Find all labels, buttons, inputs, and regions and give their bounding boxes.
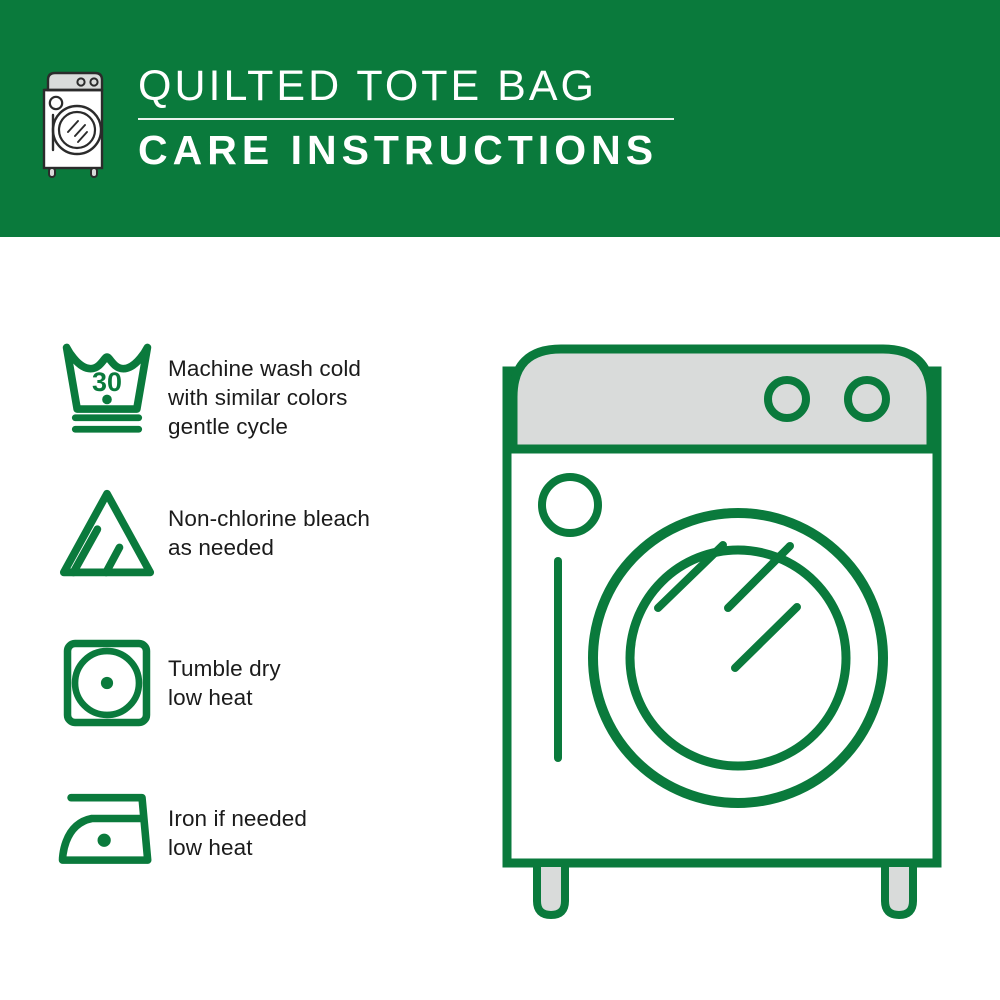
wash-temperature-value: 30 [92, 367, 122, 397]
tumble-dry-icon [46, 630, 168, 730]
care-label-line: Non-chlorine bleach [168, 504, 370, 533]
care-label-line: Machine wash cold [168, 354, 361, 383]
bleach-triangle-icon [46, 480, 168, 582]
care-label-line: gentle cycle [168, 412, 361, 441]
care-label: Tumble dry low heat [168, 630, 281, 712]
care-label: Non-chlorine bleach as needed [168, 480, 370, 562]
care-row: Iron if needed low heat [46, 780, 476, 930]
care-label: Machine wash cold with similar colors ge… [168, 330, 361, 441]
care-instruction-list: 30 Machine wash cold with similar colors… [46, 330, 476, 930]
care-row: Non-chlorine bleach as needed [46, 480, 476, 630]
front-load-washing-machine-illustration [495, 333, 965, 933]
care-label-line: low heat [168, 683, 281, 712]
page-header: QUILTED TOTE BAG CARE INSTRUCTIONS [0, 0, 1000, 237]
page-title: QUILTED TOTE BAG [138, 62, 674, 110]
page-subtitle: CARE INSTRUCTIONS [138, 127, 674, 173]
header-title-block: QUILTED TOTE BAG CARE INSTRUCTIONS [138, 62, 674, 173]
wash-tub-icon: 30 [46, 330, 168, 436]
care-label-line: Tumble dry [168, 654, 281, 683]
machine-leg [885, 863, 913, 915]
washing-machine-icon [40, 70, 112, 180]
control-panel [513, 349, 931, 449]
care-row: Tumble dry low heat [46, 630, 476, 780]
care-label-line: with similar colors [168, 383, 361, 412]
care-label-line: low heat [168, 833, 307, 862]
care-label-line: as needed [168, 533, 370, 562]
care-label: Iron if needed low heat [168, 780, 307, 862]
care-label-line: Iron if needed [168, 804, 307, 833]
iron-icon [46, 780, 168, 868]
care-instructions-page: QUILTED TOTE BAG CARE INSTRUCTIONS 30 [0, 0, 1000, 1000]
header-content: QUILTED TOTE BAG CARE INSTRUCTIONS [40, 62, 674, 180]
machine-leg [537, 863, 565, 915]
title-divider [138, 118, 674, 120]
care-row: 30 Machine wash cold with similar colors… [46, 330, 476, 480]
